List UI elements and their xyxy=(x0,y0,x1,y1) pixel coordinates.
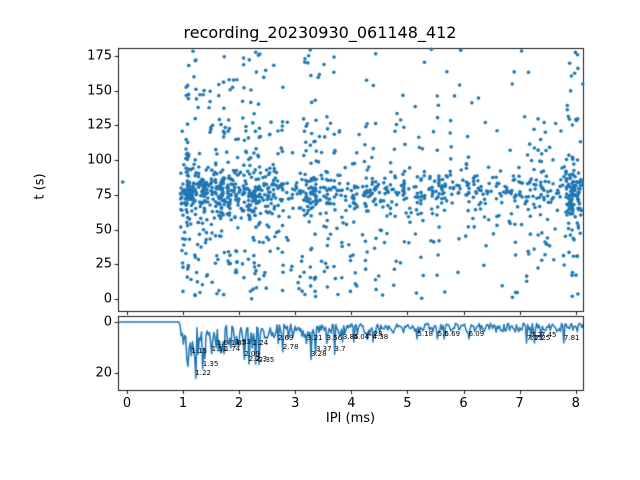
raster-y-tick-150: 150 xyxy=(42,84,112,97)
histogram-x-tick-4: 4 xyxy=(347,397,355,410)
peak-label-2-24: 2.24 xyxy=(253,340,269,347)
histogram-x-tick-8: 8 xyxy=(572,397,580,410)
histogram-y-tick-0: 0 xyxy=(42,315,112,328)
peak-label-4-38: 4.38 xyxy=(373,334,389,341)
raster-y-tick-50: 50 xyxy=(42,223,112,236)
peak-label-7-81: 7.81 xyxy=(564,335,580,342)
page-title: recording_20230930_061148_412 xyxy=(0,25,640,41)
raster-y-tick-0: 0 xyxy=(42,293,112,306)
raster-y-tick-25: 25 xyxy=(42,258,112,271)
peak-label-1-35: 1.35 xyxy=(203,361,219,368)
raster-y-tick-175: 175 xyxy=(42,49,112,62)
histogram-y-tick-20: 20 xyxy=(42,367,112,380)
peak-label-2-35: 2.35 xyxy=(259,357,275,364)
raster-y-axis-label: t (s) xyxy=(34,137,47,237)
histogram-x-tick-0: 0 xyxy=(123,397,131,410)
peak-label-5-18: 5.18 xyxy=(418,331,434,338)
histogram-x-tick-5: 5 xyxy=(403,397,411,410)
peak-label-5-69: 5.69 xyxy=(444,331,460,338)
peak-label-3-37: 3.37 xyxy=(316,346,332,353)
raster-y-tick-125: 125 xyxy=(42,119,112,132)
histogram-x-tick-3: 3 xyxy=(291,397,299,410)
matplotlib-figure: recording_20230930_061148_412 t (s) IPI … xyxy=(0,0,640,480)
raster-y-tick-100: 100 xyxy=(42,154,112,167)
peak-label-3-21: 3.21 xyxy=(307,335,323,342)
peak-label-6-09: 6.09 xyxy=(469,331,485,338)
peak-label-3-7: 3.7 xyxy=(335,346,346,353)
histogram-x-tick-7: 7 xyxy=(515,397,523,410)
histogram-x-tick-2: 2 xyxy=(235,397,243,410)
peak-label-1-22: 1.22 xyxy=(195,370,211,377)
histogram-x-tick-1: 1 xyxy=(179,397,187,410)
peak-label-1-93: 1.93 xyxy=(235,339,251,346)
peak-label-1-15: 1.15 xyxy=(191,348,207,355)
peak-label-2-69: 2.69 xyxy=(278,335,294,342)
plot-canvas xyxy=(0,0,640,480)
peak-label-2-78: 2.78 xyxy=(283,344,299,351)
histogram-x-axis-label: IPI (ms) xyxy=(118,412,583,425)
histogram-x-tick-6: 6 xyxy=(459,397,467,410)
raster-y-tick-75: 75 xyxy=(42,188,112,201)
peak-label-7-45: 7.45 xyxy=(541,332,557,339)
peak-label-3-56: 3.56 xyxy=(327,335,343,342)
